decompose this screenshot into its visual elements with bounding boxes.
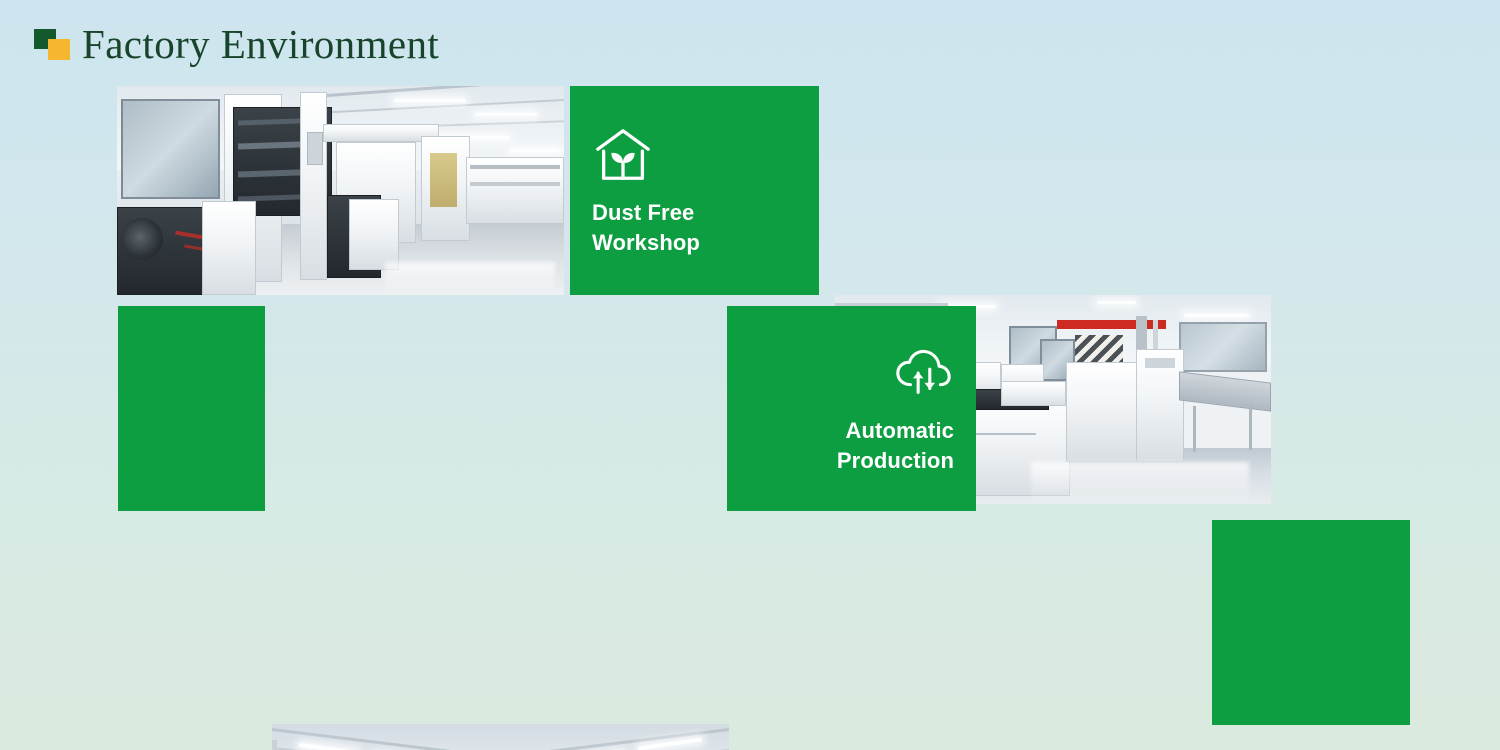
photo-printing-press-line: [117, 86, 564, 295]
green-block-row2-left: [118, 306, 265, 511]
feature-automatic-production[interactable]: Automatic Production: [727, 306, 976, 511]
logo-square-amber-icon: [48, 39, 70, 60]
photo-long-production-line-hall: [272, 724, 729, 750]
feature-dust-free-workshop[interactable]: Dust Free Workshop: [570, 86, 819, 295]
greenhouse-sprout-icon: [592, 124, 654, 186]
green-block-row3-right: [1212, 520, 1410, 725]
feature-label: Dust Free Workshop: [592, 198, 700, 256]
page-header: Factory Environment: [34, 16, 439, 72]
brand-logo: [34, 25, 74, 63]
page-title: Factory Environment: [82, 24, 439, 65]
feature-label: Automatic Production: [837, 416, 954, 474]
cloud-sync-arrows-icon: [892, 342, 954, 404]
